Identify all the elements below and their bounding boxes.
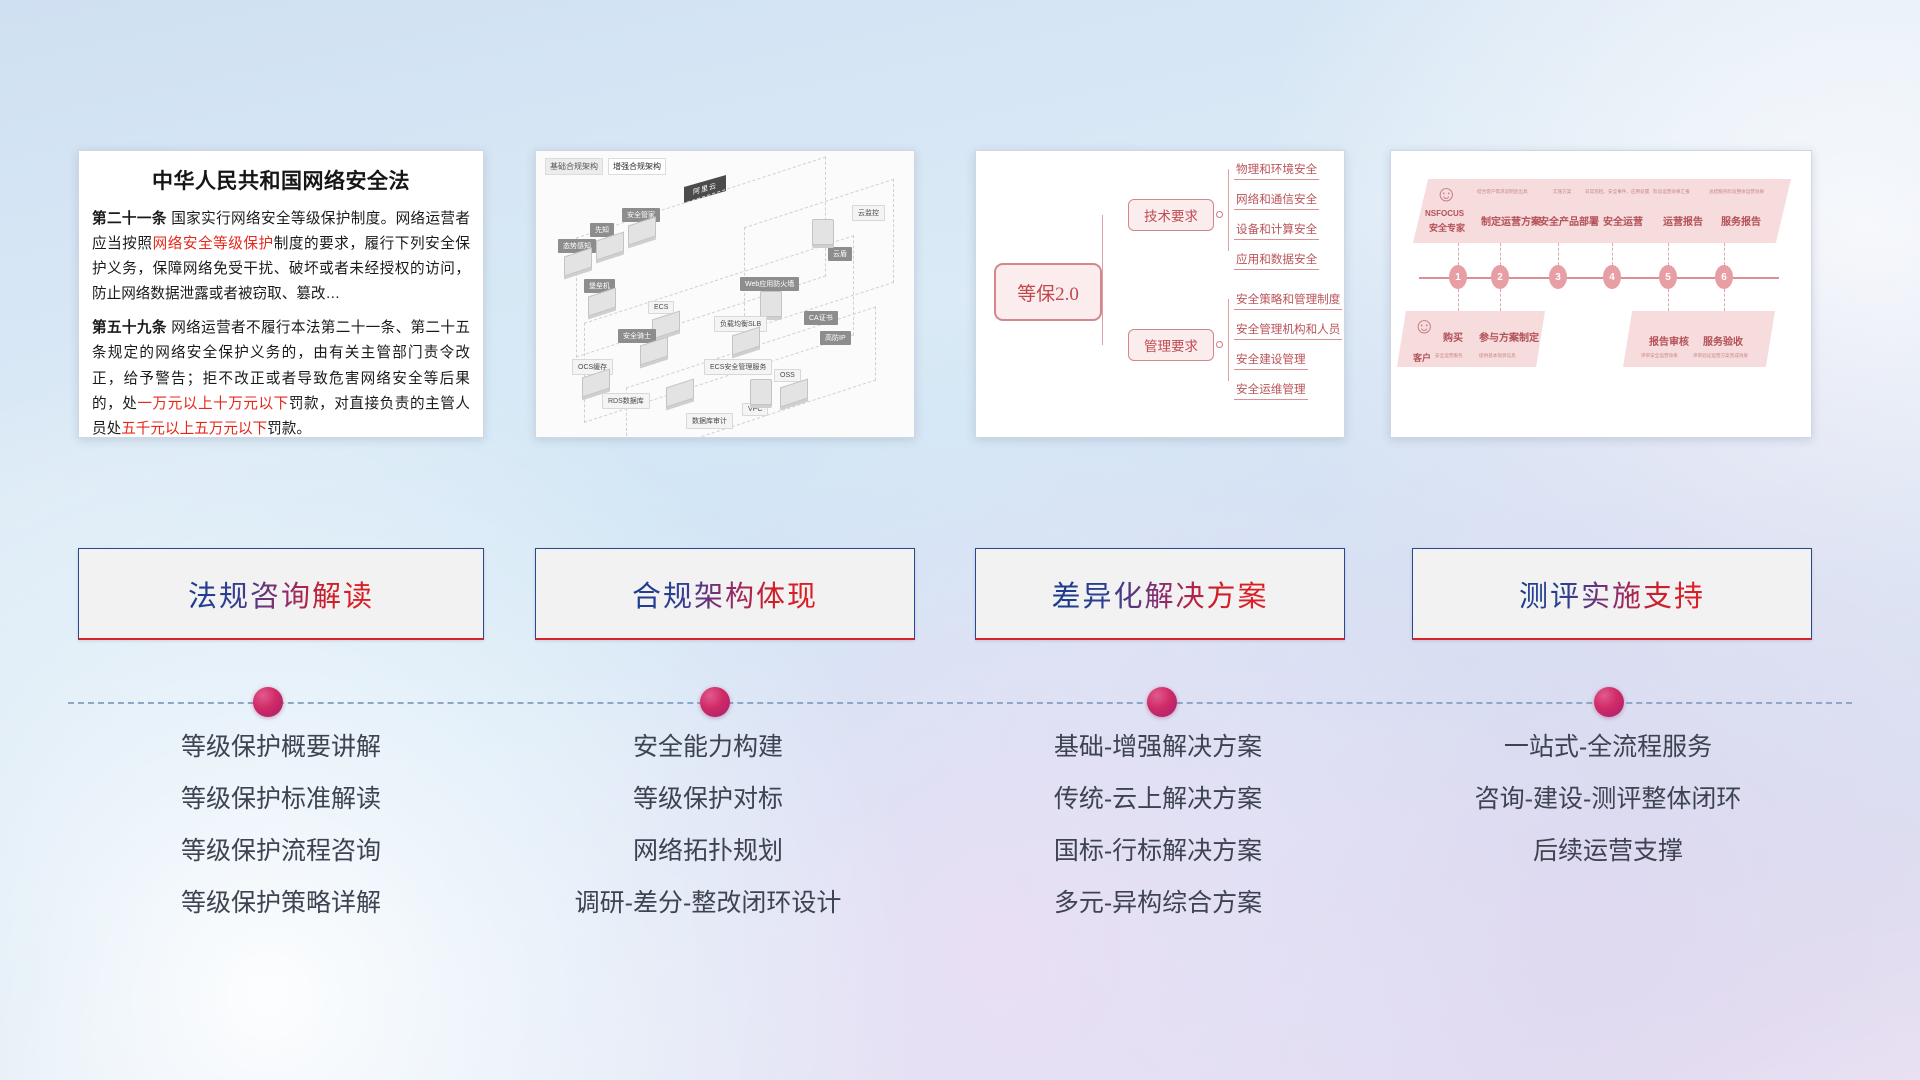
architecture-diagram: 基础合规架构 增强合规架构 阿里云 安全管家 先知 态势感知 堡垒机 ECS 安… bbox=[536, 151, 914, 437]
law-title: 中华人民共和国网络安全法 bbox=[79, 165, 483, 195]
mindmap-leaf-device-compute: 设备和计算安全 bbox=[1234, 221, 1319, 240]
title-box-label-3: 测评实施支持 bbox=[1519, 573, 1705, 615]
upper-step-5-sub: 总结服务阶段整体运营效果 bbox=[1709, 189, 1764, 195]
list-item: 国标-行标解决方案 bbox=[955, 839, 1361, 864]
list-item: 咨询-建设-测评整体闭环 bbox=[1405, 787, 1811, 812]
horizontal-timeline bbox=[0, 693, 1920, 713]
title-box-label-2: 差异化解决方案 bbox=[1051, 573, 1268, 615]
law-article-59-highlight-2: 五千元以上五万元以下 bbox=[121, 421, 267, 437]
thumbnail-cards-row: 中华人民共和国网络安全法 第二十一条 国家实行网络安全等级保护制度。网络运营者应… bbox=[0, 150, 1920, 440]
dash-node-6-down bbox=[1724, 289, 1725, 311]
mindmap-leaf-network-comm: 网络和通信安全 bbox=[1234, 191, 1319, 210]
list-item: 等级保护对标 bbox=[505, 787, 911, 812]
list-item: 等级保护概要讲解 bbox=[78, 735, 484, 760]
timeline-marker-4[interactable] bbox=[1594, 687, 1624, 717]
lower-left-step-1-sub: 安全运营服务 bbox=[1435, 353, 1463, 359]
list-item: 安全能力构建 bbox=[505, 735, 911, 760]
lower-left-step-2-sub: 提供基本现状信息 bbox=[1479, 353, 1516, 359]
title-box-label-1: 合规架构体现 bbox=[632, 573, 818, 615]
chip-ecs: ECS bbox=[648, 301, 674, 314]
mindmap-leaf-policy-system: 安全策略和管理制度 bbox=[1234, 291, 1342, 310]
chip-ca-certificate: CA证书 bbox=[804, 311, 838, 325]
mindmap-leaf-physical-env: 物理和环境安全 bbox=[1234, 161, 1319, 180]
lower-right-step-2-title: 服务验收 bbox=[1703, 333, 1743, 348]
law-article-21-number: 第二十一条 bbox=[92, 211, 167, 227]
mindmap: 等保2.0 技术要求 物理和环境安全 网络和通信安全 设备和计算安全 应用和数据… bbox=[976, 151, 1344, 437]
section-title-boxes: 法规咨询解读 合规架构体现 差异化解决方案 测评实施支持 bbox=[0, 548, 1920, 648]
upper-step-5-title: 服务报告 bbox=[1721, 213, 1761, 228]
timeline-marker-1[interactable] bbox=[253, 687, 283, 717]
expert-person-icon: ☺ bbox=[1435, 183, 1457, 205]
tab-enhanced-compliance[interactable]: 增强合规架构 bbox=[608, 158, 666, 175]
architecture-tabs[interactable]: 基础合规架构 增强合规架构 bbox=[545, 158, 666, 175]
mindmap-leaf-org-personnel: 安全管理机构和人员 bbox=[1234, 321, 1342, 340]
title-box-regulation-consulting[interactable]: 法规咨询解读 bbox=[78, 548, 484, 640]
timeline-node-1[interactable]: 1 bbox=[1449, 265, 1467, 289]
mindmap-leaf-app-data: 应用和数据安全 bbox=[1234, 251, 1319, 270]
list-item: 等级保护标准解读 bbox=[78, 787, 484, 812]
upper-step-3-title: 安全运营 bbox=[1603, 213, 1643, 228]
law-article-59: 第五十九条 网络运营者不履行本法第二十一条、第二十五条规定的网络安全保护义务的，… bbox=[92, 316, 470, 438]
mindmap-branch-technical: 技术要求 bbox=[1128, 199, 1214, 231]
upper-step-3-sub: 日常巡检、安全事件、应用处置 bbox=[1585, 189, 1649, 195]
mindmap-root: 等保2.0 bbox=[994, 263, 1102, 321]
lower-right-step-1-sub: 评审安全运营效果 bbox=[1641, 353, 1678, 359]
list-item: 多元-异构综合方案 bbox=[955, 891, 1361, 916]
list-item: 等级保护策略详解 bbox=[78, 891, 484, 916]
list-item: 网络拓扑规划 bbox=[505, 839, 911, 864]
dash-node-4-up bbox=[1612, 243, 1613, 265]
mindmap-connector-tech bbox=[1102, 215, 1128, 293]
law-article-59-highlight-1: 一万元以上十万元以下 bbox=[137, 396, 288, 412]
upper-step-4-sub: 阶段运营效果汇报 bbox=[1653, 189, 1690, 195]
mindmap-spine-technical bbox=[1228, 169, 1229, 251]
list-column-evaluation: 一站式-全流程服务 咨询-建设-测评整体闭环 后续运营支撑 bbox=[1405, 735, 1811, 891]
timeline-marker-2[interactable] bbox=[700, 687, 730, 717]
list-column-solution: 基础-增强解决方案 传统-云上解决方案 国标-行标解决方案 多元-异构综合方案 bbox=[955, 735, 1361, 943]
card-mindmap-dengbao[interactable]: 等保2.0 技术要求 物理和环境安全 网络和通信安全 设备和计算安全 应用和数据… bbox=[975, 150, 1345, 438]
upper-step-2-title: 安全产品部署 bbox=[1539, 213, 1599, 228]
node-waf bbox=[760, 291, 782, 317]
lower-left-step-1-title: 购买 bbox=[1443, 329, 1463, 344]
lower-left-step-2-title: 参与方案制定 bbox=[1479, 329, 1539, 344]
law-article-59-tail: 罚款。 bbox=[267, 421, 311, 437]
timeline-marker-3[interactable] bbox=[1147, 687, 1177, 717]
timeline-node-5[interactable]: 5 bbox=[1659, 265, 1677, 289]
timeline-node-4[interactable]: 4 bbox=[1603, 265, 1621, 289]
title-box-differentiated-solution[interactable]: 差异化解决方案 bbox=[975, 548, 1345, 640]
node-cloud-shield bbox=[812, 219, 834, 245]
timeline-node-6[interactable]: 6 bbox=[1715, 265, 1733, 289]
title-box-compliance-architecture[interactable]: 合规架构体现 bbox=[535, 548, 915, 640]
law-article-59-number: 第五十九条 bbox=[92, 320, 167, 336]
chip-cloud-shield: 云盾 bbox=[828, 247, 852, 261]
title-box-label-0: 法规咨询解读 bbox=[188, 573, 374, 615]
chip-ecs-security-management: ECS安全管理服务 bbox=[704, 359, 772, 375]
mindmap-branch-management: 管理要求 bbox=[1128, 329, 1214, 361]
card-compliance-architecture[interactable]: 基础合规架构 增强合规架构 阿里云 安全管家 先知 态势感知 堡垒机 ECS 安… bbox=[535, 150, 915, 438]
law-article-21-highlight: 网络安全等级保护 bbox=[153, 236, 274, 252]
law-body: 第二十一条 国家实行网络安全等级保护制度。网络运营者应当按照网络安全等级保护制度… bbox=[79, 207, 483, 438]
chip-web-application-firewall: Web应用防火墙 bbox=[740, 277, 799, 291]
timeline-node-2[interactable]: 2 bbox=[1491, 265, 1509, 289]
mindmap-toggle-technical[interactable] bbox=[1216, 211, 1223, 218]
chip-rds-database: RDS数据库 bbox=[602, 393, 650, 409]
mindmap-leaf-construction-mgmt: 安全建设管理 bbox=[1234, 351, 1308, 370]
upper-step-2-sub: 实施方案 bbox=[1553, 189, 1571, 195]
upper-step-1-sub: 结合客户需求说明后出具 bbox=[1477, 189, 1528, 195]
dash-node-6-up bbox=[1724, 243, 1725, 265]
title-box-evaluation-support[interactable]: 测评实施支持 bbox=[1412, 548, 1812, 640]
mindmap-leaf-ops-mgmt: 安全运维管理 bbox=[1234, 381, 1308, 400]
dash-node-3-up bbox=[1558, 243, 1559, 265]
customer-label: 客户 bbox=[1413, 351, 1431, 364]
node-vpc bbox=[750, 379, 772, 405]
card-cybersecurity-law[interactable]: 中华人民共和国网络安全法 第二十一条 国家实行网络安全等级保护制度。网络运营者应… bbox=[78, 150, 484, 438]
dash-node-2-up bbox=[1500, 243, 1501, 265]
dash-node-1-up bbox=[1458, 243, 1459, 265]
tab-basic-compliance[interactable]: 基础合规架构 bbox=[545, 158, 603, 175]
list-item: 传统-云上解决方案 bbox=[955, 787, 1361, 812]
provider-label-line1: NSFOCUS bbox=[1425, 209, 1464, 218]
timeline-dashed-line bbox=[68, 702, 1852, 704]
law-article-21: 第二十一条 国家实行网络安全等级保护制度。网络运营者应当按照网络安全等级保护制度… bbox=[92, 207, 470, 307]
list-item: 等级保护流程咨询 bbox=[78, 839, 484, 864]
list-column-regulation: 等级保护概要讲解 等级保护标准解读 等级保护流程咨询 等级保护策略详解 bbox=[78, 735, 484, 943]
list-item: 基础-增强解决方案 bbox=[955, 735, 1361, 760]
mindmap-spine-management bbox=[1228, 299, 1229, 381]
provider-label-line2: 安全专家 bbox=[1429, 221, 1465, 234]
list-item: 一站式-全流程服务 bbox=[1405, 735, 1811, 760]
mindmap-connector-mgmt bbox=[1102, 291, 1128, 345]
customer-person-icon: ☺ bbox=[1413, 315, 1435, 337]
list-column-architecture: 安全能力构建 等级保护对标 网络拓扑规划 调研-差分-整改闭环设计 bbox=[505, 735, 911, 943]
dash-node-5-down bbox=[1668, 289, 1669, 311]
chip-db-audit: 数据库审计 bbox=[686, 413, 733, 429]
lower-right-step-1-title: 报告审核 bbox=[1649, 333, 1689, 348]
chip-cloud-monitor: 云监控 bbox=[852, 205, 885, 221]
card-service-timeline[interactable]: ☺ NSFOCUS 安全专家 结合客户需求说明后出具 制定运营方案 实施方案 安… bbox=[1390, 150, 1812, 438]
list-item: 后续运营支撑 bbox=[1405, 839, 1811, 864]
dash-node-5-up bbox=[1668, 243, 1669, 265]
list-item: 调研-差分-整改闭环设计 bbox=[505, 891, 911, 916]
dash-node-1-down bbox=[1458, 289, 1459, 311]
mindmap-toggle-management[interactable] bbox=[1216, 341, 1223, 348]
chip-oss: OSS bbox=[774, 369, 801, 382]
service-process-diagram: ☺ NSFOCUS 安全专家 结合客户需求说明后出具 制定运营方案 实施方案 安… bbox=[1391, 151, 1811, 437]
feature-lists-row: 等级保护概要讲解 等级保护标准解读 等级保护流程咨询 等级保护策略详解 安全能力… bbox=[0, 735, 1920, 965]
timeline-node-3[interactable]: 3 bbox=[1549, 265, 1567, 289]
upper-step-4-title: 运营报告 bbox=[1663, 213, 1703, 228]
chip-anti-ddos-ip: 高防IP bbox=[820, 331, 851, 345]
dash-node-2-down bbox=[1500, 289, 1501, 311]
upper-step-1-title: 制定运营方案 bbox=[1481, 213, 1541, 228]
lower-right-step-2-sub: 评审验证运营方案完成效果 bbox=[1693, 353, 1748, 359]
